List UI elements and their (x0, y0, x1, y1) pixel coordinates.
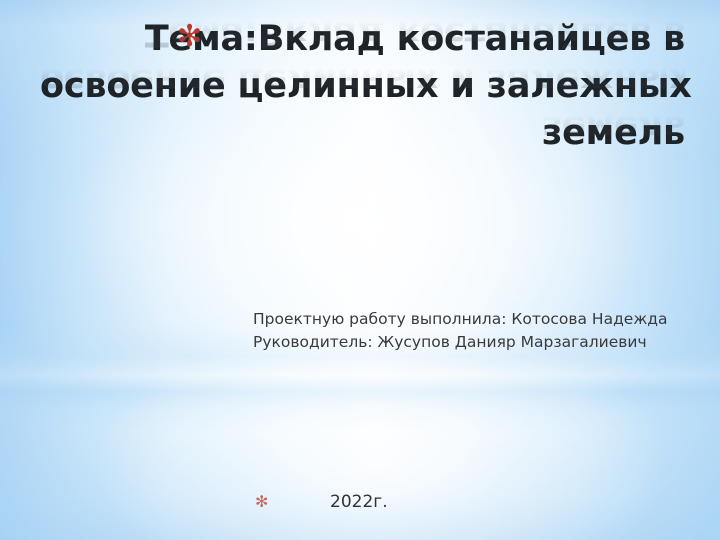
subtitle-line-supervisor: Руководитель: Жусупов Данияр Марзагалиев… (253, 331, 703, 354)
asterisk-icon: ✻ (255, 492, 330, 512)
slide-footer: ✻ 2022г. (255, 492, 655, 512)
title-line-1: Тема:Вклад костанайцев в (40, 18, 685, 60)
slide-subtitle: Проектную работу выполнила: Котосова Над… (253, 308, 703, 354)
title-line-2: освоение целинных и залежных (40, 65, 685, 107)
title-line-3-wrapper: земель земель (40, 112, 685, 159)
presentation-slide: ✻ Тема:Вклад костанайцев в Тема:Вклад ко… (0, 0, 720, 540)
subtitle-line-author: Проектную работу выполнила: Котосова Над… (253, 308, 703, 331)
asterisk-icon: ✻ (177, 22, 202, 52)
footer-year: 2022г. (330, 492, 388, 512)
title-line-2-wrapper: освоение целинных и залежных освоение це… (40, 65, 685, 112)
title-line-1-wrapper: ✻ Тема:Вклад костанайцев в Тема:Вклад ко… (40, 18, 685, 65)
slide-title: ✻ Тема:Вклад костанайцев в Тема:Вклад ко… (40, 18, 685, 159)
title-line-3: земель (40, 112, 685, 154)
